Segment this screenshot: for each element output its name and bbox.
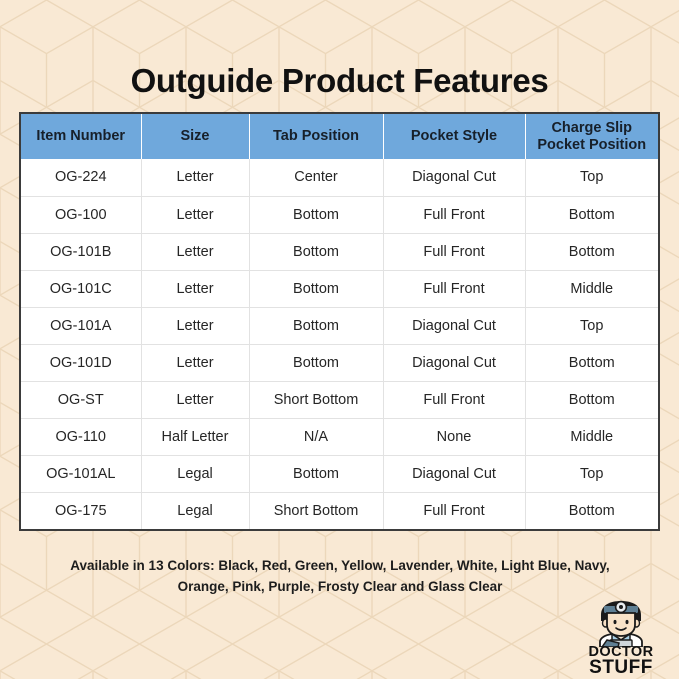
page-title: Outguide Product Features (0, 62, 679, 100)
cell-charge-slip-pocket-position: Bottom (525, 381, 658, 418)
table-row: OG-175LegalShort BottomFull FrontBottom (21, 492, 658, 529)
table-row: OG-100LetterBottomFull FrontBottom (21, 196, 658, 233)
cell-tab-position: Short Bottom (249, 381, 383, 418)
cell-charge-slip-pocket-position: Bottom (525, 344, 658, 381)
column-header-charge-slip-pocket-position: Charge Slip Pocket Position (525, 114, 658, 159)
cell-size: Half Letter (141, 418, 249, 455)
cell-charge-slip-pocket-position: Bottom (525, 233, 658, 270)
table-body: OG-224LetterCenterDiagonal CutTopOG-100L… (21, 159, 658, 529)
cell-tab-position: Bottom (249, 196, 383, 233)
column-header-label: Pocket Style (411, 128, 497, 144)
cell-item-number: OG-ST (21, 381, 141, 418)
cell-pocket-style: Diagonal Cut (383, 455, 525, 492)
cell-charge-slip-pocket-position: Top (525, 455, 658, 492)
cell-item-number: OG-100 (21, 196, 141, 233)
cell-size: Letter (141, 344, 249, 381)
cell-pocket-style: Diagonal Cut (383, 159, 525, 196)
cell-tab-position: Short Bottom (249, 492, 383, 529)
cell-charge-slip-pocket-position: Middle (525, 270, 658, 307)
cell-size: Letter (141, 233, 249, 270)
column-header-label: Tab Position (273, 128, 359, 144)
availability-note-line2: Orange, Pink, Purple, Frosty Clear and G… (178, 579, 503, 594)
features-table-container: Item Number Size Tab Position Pocket Sty… (19, 112, 660, 531)
table-row: OG-101ALetterBottomDiagonal CutTop (21, 307, 658, 344)
table-row: OG-101BLetterBottomFull FrontBottom (21, 233, 658, 270)
table-row: OG-101DLetterBottomDiagonal CutBottom (21, 344, 658, 381)
table-row: OG-101CLetterBottomFull FrontMiddle (21, 270, 658, 307)
cell-item-number: OG-101C (21, 270, 141, 307)
cell-item-number: OG-110 (21, 418, 141, 455)
cell-tab-position: Bottom (249, 307, 383, 344)
cell-tab-position: Bottom (249, 344, 383, 381)
cell-pocket-style: Full Front (383, 233, 525, 270)
brand-word-stuff: STUFF (575, 659, 667, 677)
cell-item-number: OG-101B (21, 233, 141, 270)
column-header-pocket-style: Pocket Style (383, 114, 525, 159)
cell-size: Legal (141, 492, 249, 529)
cell-size: Letter (141, 270, 249, 307)
table-row: OG-101ALLegalBottomDiagonal CutTop (21, 455, 658, 492)
column-header-tab-position: Tab Position (249, 114, 383, 159)
brand-wordmark: DOCTOR STUFF (575, 646, 667, 677)
cell-tab-position: Bottom (249, 455, 383, 492)
table-header-row: Item Number Size Tab Position Pocket Sty… (21, 114, 658, 159)
cell-charge-slip-pocket-position: Middle (525, 418, 658, 455)
cell-pocket-style: Full Front (383, 492, 525, 529)
cell-charge-slip-pocket-position: Bottom (525, 492, 658, 529)
cell-pocket-style: Full Front (383, 381, 525, 418)
cell-tab-position: Bottom (249, 270, 383, 307)
cell-size: Letter (141, 196, 249, 233)
table-row: OG-110Half LetterN/ANoneMiddle (21, 418, 658, 455)
availability-note-line1: Available in 13 Colors: Black, Red, Gree… (70, 558, 609, 573)
cell-size: Letter (141, 159, 249, 196)
column-header-label: Charge Slip (551, 120, 632, 136)
cell-item-number: OG-101AL (21, 455, 141, 492)
cell-size: Letter (141, 307, 249, 344)
cell-charge-slip-pocket-position: Top (525, 159, 658, 196)
cell-pocket-style: Diagonal Cut (383, 344, 525, 381)
column-header-item-number: Item Number (21, 114, 141, 159)
cell-item-number: OG-101A (21, 307, 141, 344)
cell-pocket-style: Full Front (383, 196, 525, 233)
table-header: Item Number Size Tab Position Pocket Sty… (21, 114, 658, 159)
cell-item-number: OG-224 (21, 159, 141, 196)
cell-tab-position: N/A (249, 418, 383, 455)
doctor-character-icon (588, 599, 654, 647)
availability-note: Available in 13 Colors: Black, Red, Gree… (70, 556, 610, 598)
column-header-label-line2: Pocket Position (530, 137, 655, 153)
cell-size: Legal (141, 455, 249, 492)
cell-item-number: OG-175 (21, 492, 141, 529)
infographic-page: Outguide Product Features Item Number Si… (0, 0, 679, 679)
table-row: OG-STLetterShort BottomFull FrontBottom (21, 381, 658, 418)
cell-charge-slip-pocket-position: Bottom (525, 196, 658, 233)
cell-pocket-style: Full Front (383, 270, 525, 307)
cell-tab-position: Center (249, 159, 383, 196)
cell-pocket-style: Diagonal Cut (383, 307, 525, 344)
cell-tab-position: Bottom (249, 233, 383, 270)
features-table: Item Number Size Tab Position Pocket Sty… (21, 114, 658, 529)
column-header-label: Item Number (36, 128, 125, 144)
cell-item-number: OG-101D (21, 344, 141, 381)
table-row: OG-224LetterCenterDiagonal CutTop (21, 159, 658, 196)
cell-charge-slip-pocket-position: Top (525, 307, 658, 344)
column-header-label: Size (180, 128, 209, 144)
cell-pocket-style: None (383, 418, 525, 455)
column-header-size: Size (141, 114, 249, 159)
brand-logo: DOCTOR STUFF (575, 599, 667, 675)
cell-size: Letter (141, 381, 249, 418)
